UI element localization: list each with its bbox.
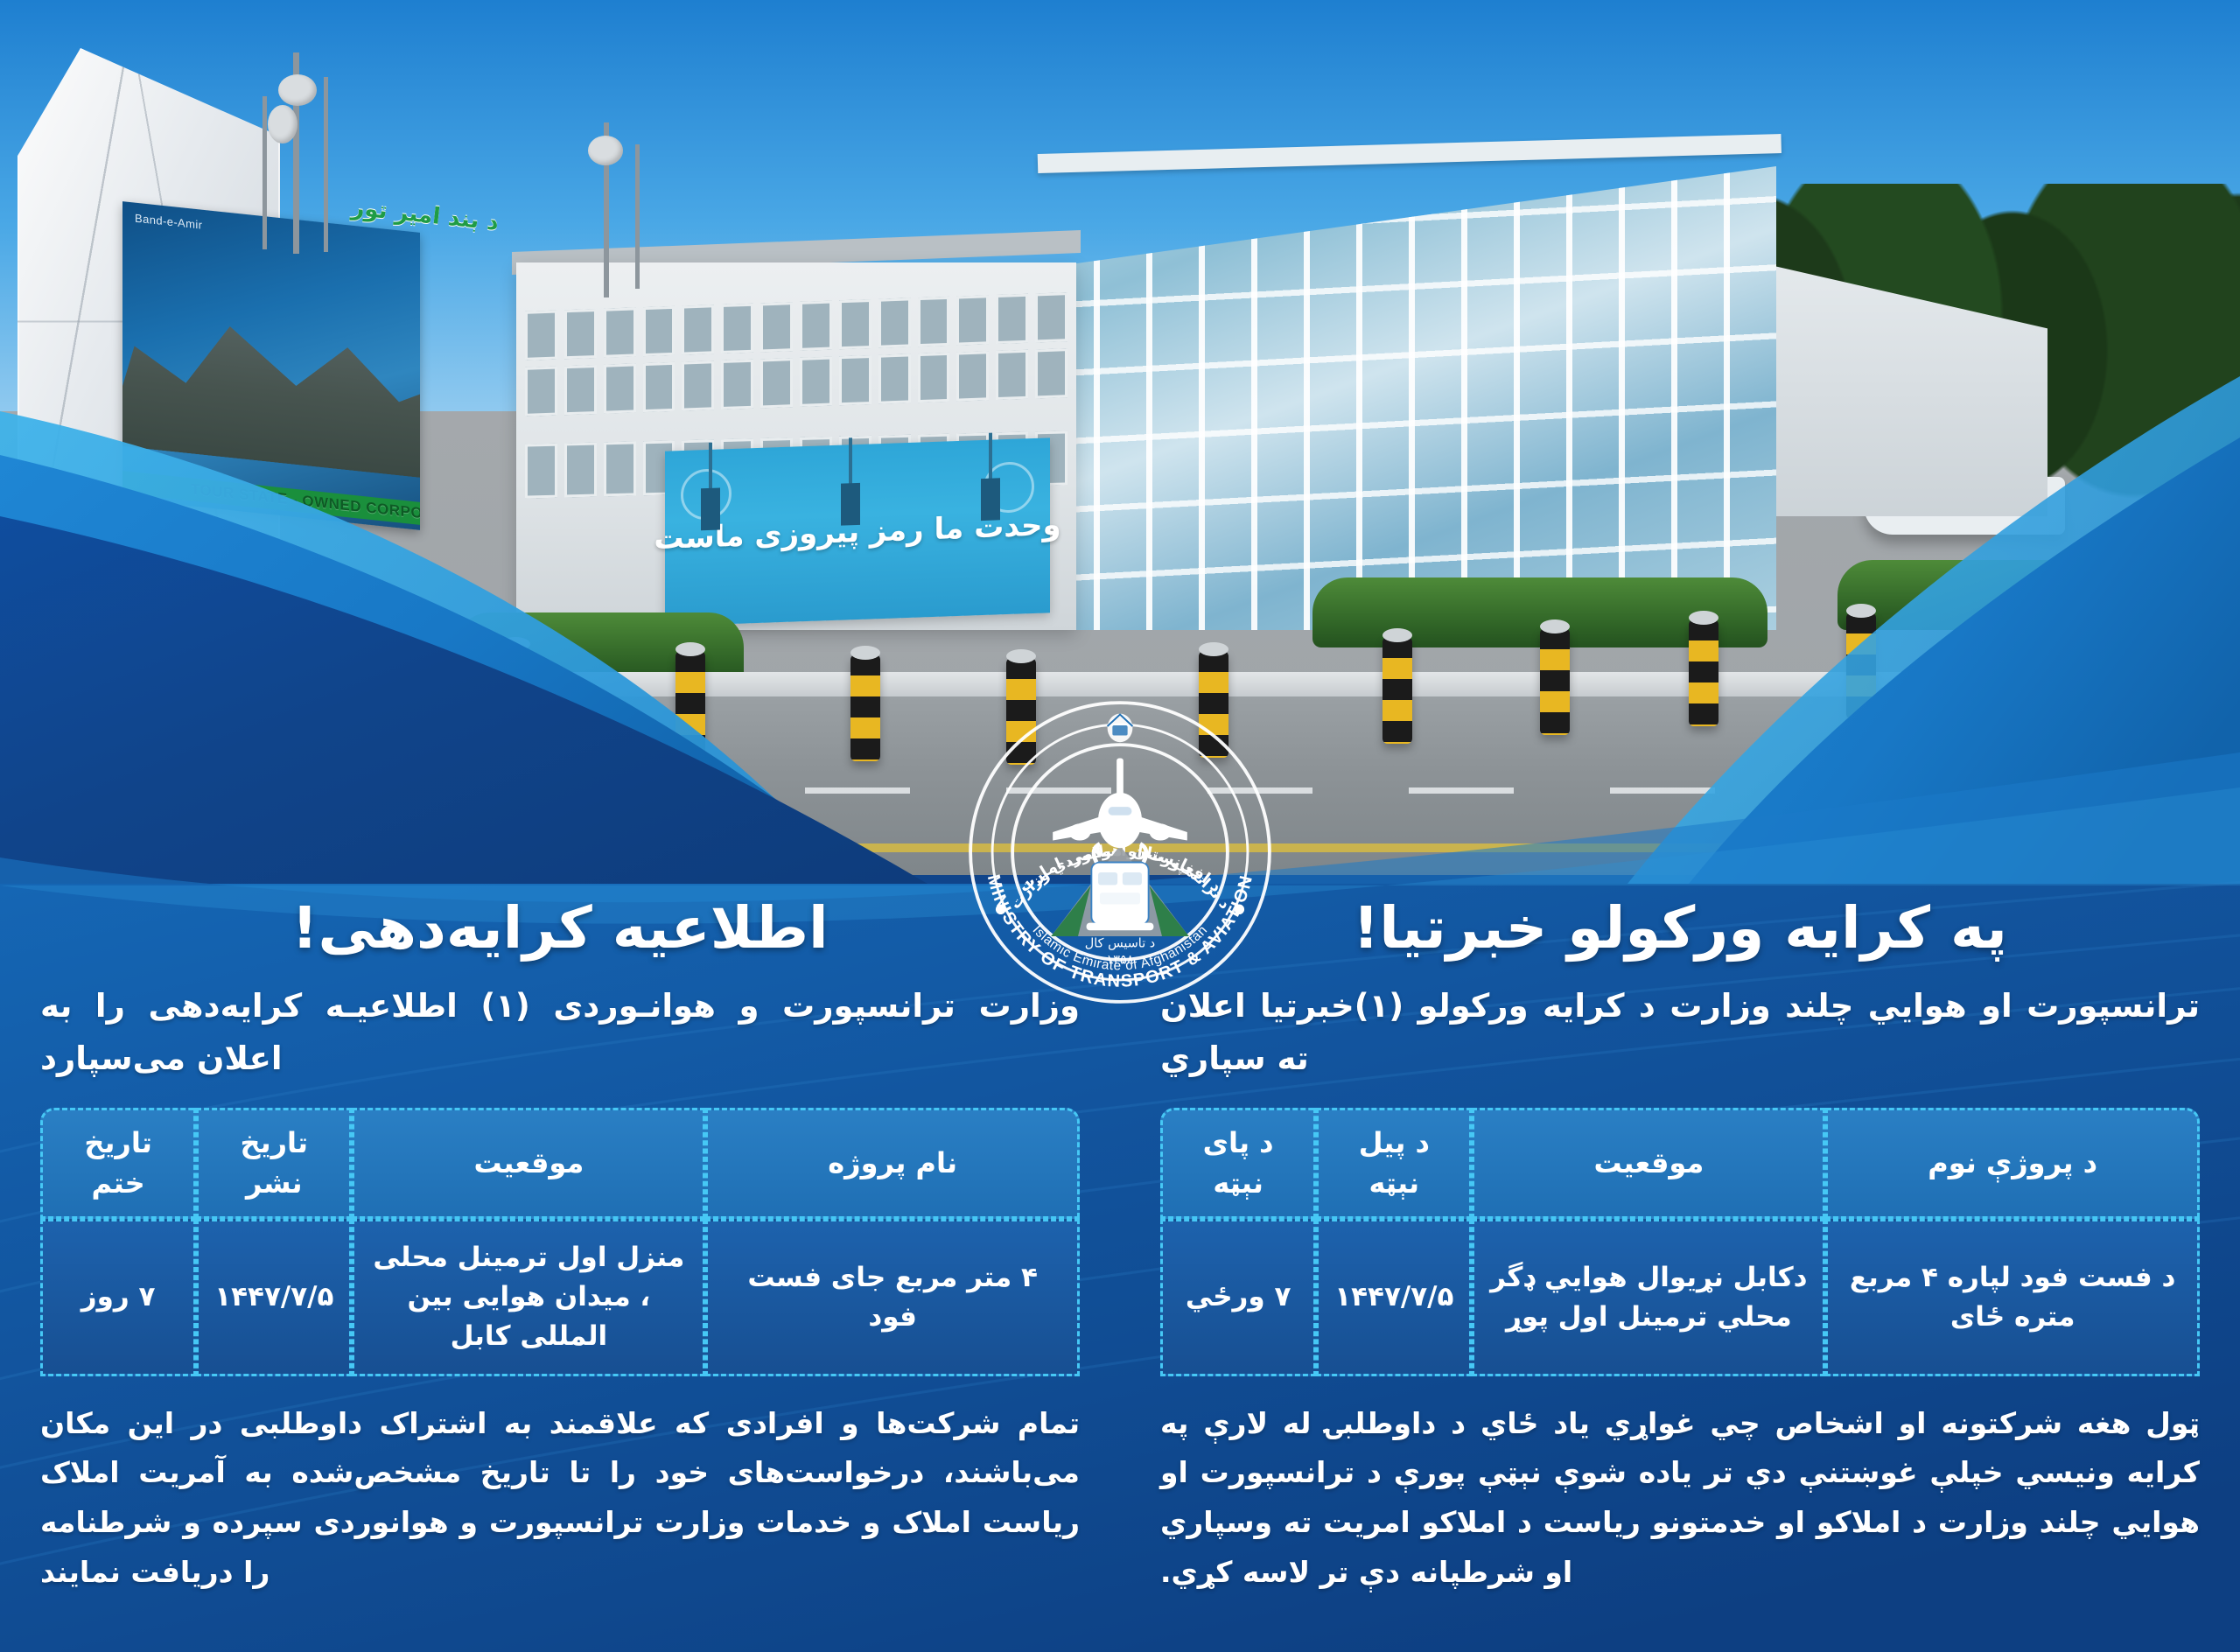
bollard (1382, 637, 1412, 744)
satellite-dish-icon (588, 136, 623, 165)
th-start-date: تاریخ نشر (196, 1108, 352, 1219)
bollard (850, 654, 880, 761)
td-start-date: ۱۴۴۷/۷/۵ (196, 1219, 352, 1376)
satellite-dish-icon (268, 105, 297, 143)
th-end-date: تاریخ ختم (40, 1108, 196, 1219)
airplane-icon (1053, 758, 1187, 848)
dari-rent-table: نام پروژه موقعیت تاریخ نشر تاریخ ختم ۴ م… (40, 1108, 1080, 1376)
pashto-column: په کرایه ورکولو خبرتیا! ترانسپورت او هوا… (1120, 892, 2240, 1652)
table-row: د فست فود لپاره ۴ مربع متره ځای دکابل نړ… (1160, 1219, 2200, 1376)
bollard (675, 651, 705, 758)
table-header-row: نام پروژه موقعیت تاریخ نشر تاریخ ختم (40, 1108, 1080, 1219)
satellite-dish-icon (278, 74, 317, 106)
pashto-subline: ترانسپورت او هوایي چلند وزارت د کرایه ور… (1160, 980, 2200, 1085)
th-location: موقعیت (352, 1108, 705, 1219)
billboard-mountain-art (122, 269, 420, 483)
th-project-name: د پروژې نوم (1825, 1108, 2200, 1219)
th-start-date: د پیل نېټه (1316, 1108, 1472, 1219)
announcement-poster: وحدت ما رمز پیروزی ماست د بند امیر تور B… (0, 0, 2240, 1652)
bollard (1689, 619, 1718, 726)
antenna-mast (262, 96, 267, 249)
pashto-rent-table: د پروژې نوم موقعیت د پیل نېټه د پای نېټه… (1160, 1108, 2200, 1376)
announcement-content: په کرایه ورکولو خبرتیا! ترانسپورت او هوا… (0, 892, 2240, 1652)
billboard: Band-e-Amir TOUR STATE - OWNED CORPORATI… (122, 201, 420, 530)
th-end-date: د پای نېټه (1160, 1108, 1316, 1219)
national-crest-icon (1108, 714, 1133, 743)
bollard (2004, 607, 2033, 714)
bollard (1846, 612, 1876, 719)
td-project-name: د فست فود لپاره ۴ مربع متره ځای (1825, 1219, 2200, 1376)
terminal-windows-upper (525, 292, 1067, 443)
td-location: دکابل نړیوال هوایي ډگر محلي ترمینل اول پ… (1472, 1219, 1825, 1376)
dari-footnote: تمام شرکت‌ها و افرادی که علاقمند به اشتر… (40, 1399, 1080, 1598)
pashto-headline: په کرایه ورکولو خبرتیا! (1160, 896, 2200, 961)
td-location: منزل اول ترمینل محلی ، میدان هوایی بین ا… (352, 1219, 705, 1376)
td-project-name: ۴ متر مربع جای فست فود (705, 1219, 1080, 1376)
table-header-row: د پروژې نوم موقعیت د پیل نېټه د پای نېټه (1160, 1108, 2200, 1219)
antenna-mast (635, 144, 640, 289)
billboard-caption: Band-e-Amir (135, 212, 202, 232)
bollard (500, 646, 530, 752)
th-project-name: نام پروژه (705, 1108, 1080, 1219)
dari-subline: وزارت ترانسپورت و هوانـوردی (۱) اطلاعیـه… (40, 980, 1080, 1085)
dari-column: اطلاعیه کرایه‌دهی! وزارت ترانسپورت و هوا… (0, 892, 1120, 1652)
antenna-mast (324, 77, 328, 252)
bollard (1540, 628, 1570, 735)
pashto-footnote: ټول هغه شرکتونه او اشخاص چي غواړي یاد ځا… (1160, 1399, 2200, 1598)
table-row: ۴ متر مربع جای فست فود منزل اول ترمینل م… (40, 1219, 1080, 1376)
td-start-date: ۱۴۴۷/۷/۵ (1316, 1219, 1472, 1376)
td-end-date: ۷ ورځي (1160, 1219, 1316, 1376)
banner-hangers (700, 432, 1015, 514)
dari-headline: اطلاعیه کرایه‌دهی! (40, 896, 1080, 961)
th-location: موقعیت (1472, 1108, 1825, 1219)
td-end-date: ۷ روز (40, 1219, 196, 1376)
